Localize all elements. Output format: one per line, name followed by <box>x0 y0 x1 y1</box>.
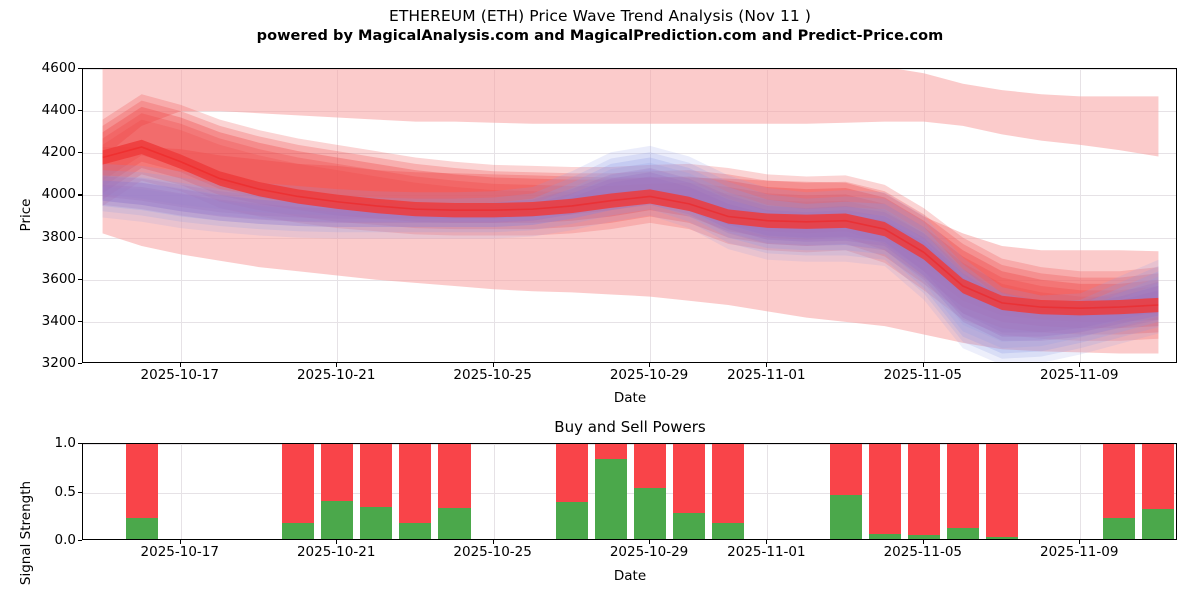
bar-stack[interactable] <box>947 443 979 539</box>
price-y-tick-label: 4200 <box>10 145 76 159</box>
price-y-axis-label: Price <box>18 199 34 232</box>
bar-stack[interactable] <box>1142 443 1174 539</box>
bars-x-tick-label: 2025-10-17 <box>141 545 219 560</box>
price-y-tick-mark <box>78 152 82 153</box>
bar-segment-sell[interactable] <box>126 443 158 518</box>
bars-x-tick-label: 2025-10-29 <box>610 545 688 560</box>
bar-stack[interactable] <box>595 443 627 539</box>
bar-stack[interactable] <box>282 443 314 539</box>
bar-segment-buy[interactable] <box>673 513 705 539</box>
bars-y-tick-mark <box>78 540 82 541</box>
price-y-tick-mark <box>78 363 82 364</box>
bar-segment-sell[interactable] <box>1103 443 1135 518</box>
price-x-tick-mark <box>923 363 924 367</box>
price-x-tick-label: 2025-11-09 <box>1040 368 1118 383</box>
price-x-tick-label: 2025-10-17 <box>141 368 219 383</box>
price-x-tick-mark <box>766 363 767 367</box>
chart-page: ETHEREUM (ETH) Price Wave Trend Analysis… <box>0 0 1200 600</box>
bars-title: Buy and Sell Powers <box>554 418 705 436</box>
bar-stack[interactable] <box>126 443 158 539</box>
bars-y-tick-label: 1.0 <box>10 436 76 450</box>
bar-segment-buy[interactable] <box>321 501 353 539</box>
bar-stack[interactable] <box>869 443 901 539</box>
bars-x-tick-label: 2025-11-01 <box>727 545 805 560</box>
bars-x-tick-mark <box>180 540 181 544</box>
bar-stack[interactable] <box>1103 443 1135 539</box>
bar-segment-sell[interactable] <box>438 443 470 508</box>
bar-stack[interactable] <box>986 443 1018 539</box>
bars-x-tick-mark <box>1079 540 1080 544</box>
bar-stack[interactable] <box>360 443 392 539</box>
price-wave-panel: 32003400360038004000420044004600 2025-10… <box>0 0 1200 405</box>
bar-segment-sell[interactable] <box>947 443 979 528</box>
bar-segment-buy[interactable] <box>126 518 158 539</box>
bar-segment-sell[interactable] <box>673 443 705 513</box>
bar-segment-buy[interactable] <box>1103 518 1135 539</box>
bar-segment-buy[interactable] <box>908 535 940 539</box>
bar-segment-sell[interactable] <box>634 443 666 488</box>
bar-segment-sell[interactable] <box>556 443 588 502</box>
bar-segment-buy[interactable] <box>986 537 1018 539</box>
bar-segment-sell[interactable] <box>1142 443 1174 509</box>
price-x-tick-mark <box>336 363 337 367</box>
bar-segment-sell[interactable] <box>399 443 431 523</box>
bar-segment-buy[interactable] <box>1142 509 1174 539</box>
bar-segment-sell[interactable] <box>869 443 901 534</box>
bar-stack[interactable] <box>712 443 744 539</box>
price-x-tick-label: 2025-11-01 <box>727 368 805 383</box>
bars-x-tick-label: 2025-11-05 <box>884 545 962 560</box>
price-y-tick-mark <box>78 279 82 280</box>
bar-segment-buy[interactable] <box>282 523 314 539</box>
bars-layer <box>83 444 1176 539</box>
bar-segment-buy[interactable] <box>830 495 862 539</box>
bar-segment-sell[interactable] <box>360 443 392 507</box>
bar-segment-buy[interactable] <box>869 534 901 539</box>
bar-segment-buy[interactable] <box>360 507 392 539</box>
price-x-tick-label: 2025-10-29 <box>610 368 688 383</box>
bar-segment-sell[interactable] <box>908 443 940 535</box>
price-y-tick-mark <box>78 321 82 322</box>
bars-x-tick-mark <box>336 540 337 544</box>
price-x-axis-label: Date <box>614 390 646 406</box>
price-y-tick-label: 3600 <box>10 272 76 286</box>
bar-segment-buy[interactable] <box>556 502 588 539</box>
bar-segment-sell[interactable] <box>712 443 744 523</box>
bar-stack[interactable] <box>399 443 431 539</box>
price-y-tick-mark <box>78 68 82 69</box>
price-y-tick-label: 3800 <box>10 230 76 244</box>
bars-x-tick-label: 2025-10-21 <box>297 545 375 560</box>
bar-segment-buy[interactable] <box>595 459 627 540</box>
price-wave-bands <box>83 69 1177 363</box>
bar-stack[interactable] <box>438 443 470 539</box>
bar-stack[interactable] <box>556 443 588 539</box>
bars-x-tick-mark <box>649 540 650 544</box>
price-x-tick-mark <box>493 363 494 367</box>
price-plot-area <box>82 68 1177 363</box>
bars-x-tick-mark <box>493 540 494 544</box>
price-y-tick-mark <box>78 110 82 111</box>
price-y-tick-label: 3400 <box>10 314 76 328</box>
bar-segment-buy[interactable] <box>634 488 666 539</box>
price-x-tick-mark <box>1079 363 1080 367</box>
bars-x-tick-label: 2025-10-25 <box>453 545 531 560</box>
bar-stack[interactable] <box>830 443 862 539</box>
price-x-tick-mark <box>180 363 181 367</box>
bar-stack[interactable] <box>634 443 666 539</box>
bar-segment-sell[interactable] <box>986 443 1018 537</box>
bars-x-tick-mark <box>923 540 924 544</box>
bars-x-tick-mark <box>766 540 767 544</box>
price-y-tick-mark <box>78 237 82 238</box>
bar-stack[interactable] <box>908 443 940 539</box>
bars-x-tick-label: 2025-11-09 <box>1040 545 1118 560</box>
bar-segment-buy[interactable] <box>712 523 744 539</box>
bar-segment-buy[interactable] <box>399 523 431 539</box>
bar-segment-buy[interactable] <box>947 528 979 539</box>
price-y-tick-mark <box>78 194 82 195</box>
price-y-tick-label: 3200 <box>10 356 76 370</box>
buy-sell-powers-panel: Buy and Sell Powers 0.00.51.0 2025-10-17… <box>0 405 1200 600</box>
bar-segment-sell[interactable] <box>282 443 314 523</box>
bars-x-axis-label: Date <box>614 568 646 584</box>
bars-plot-area <box>82 443 1177 540</box>
price-x-tick-label: 2025-10-25 <box>453 368 531 383</box>
price-y-tick-label: 4400 <box>10 103 76 117</box>
bar-segment-sell[interactable] <box>595 443 627 459</box>
price-x-tick-label: 2025-11-05 <box>884 368 962 383</box>
bar-stack[interactable] <box>673 443 705 539</box>
bar-segment-sell[interactable] <box>830 443 862 495</box>
bar-segment-sell[interactable] <box>321 443 353 501</box>
price-x-tick-mark <box>649 363 650 367</box>
bars-y-tick-mark <box>78 492 82 493</box>
bars-y-tick-mark <box>78 443 82 444</box>
price-y-tick-label: 4600 <box>10 61 76 75</box>
bar-segment-buy[interactable] <box>438 508 470 539</box>
price-x-tick-label: 2025-10-21 <box>297 368 375 383</box>
bars-y-axis-label: Signal Strength <box>18 481 34 585</box>
bar-stack[interactable] <box>321 443 353 539</box>
